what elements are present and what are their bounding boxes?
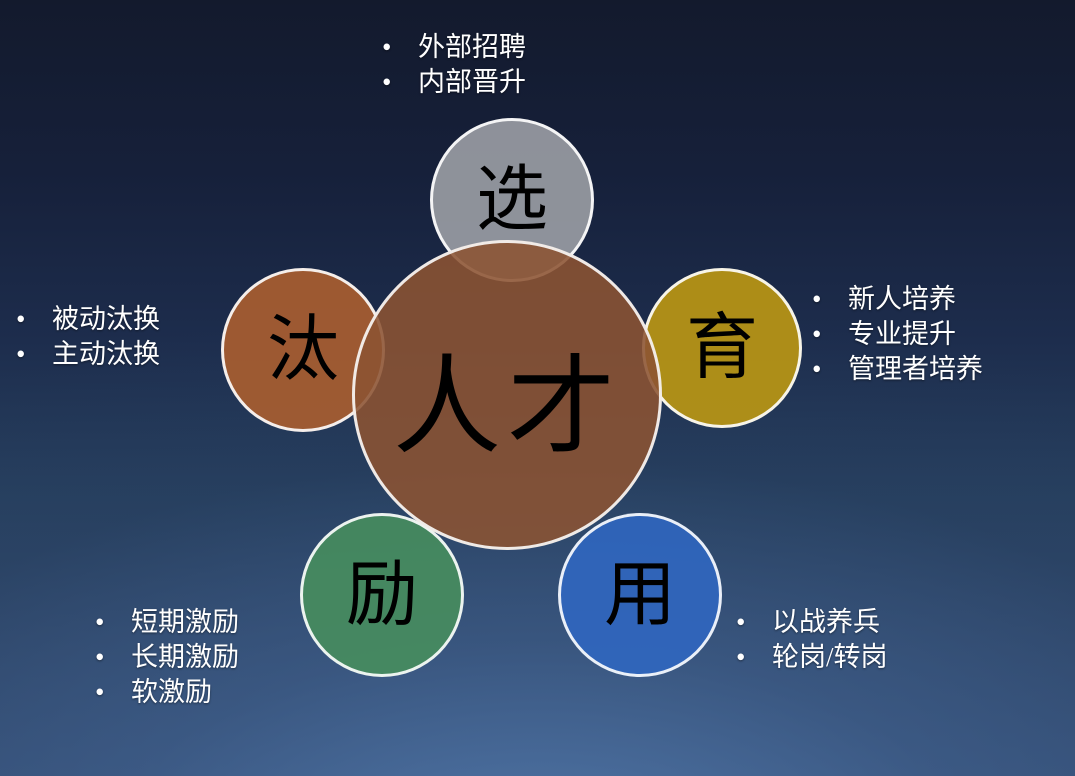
list-item: • 轮岗/转岗 [736,640,888,675]
circle-label-yong: 用 [604,559,676,631]
list-item: • 主动汰换 [16,337,160,372]
bullet-icon: • [812,352,848,387]
bullet-text: 新人培养 [848,282,956,317]
circle-yu[interactable]: 育 [642,268,802,428]
circle-core-talent[interactable]: 人才 [352,240,662,550]
slide-canvas: 汰 选 育 励 用 人才 • 外部招聘 • 内部晋升 [0,0,1075,776]
callout-list-yong: • 以战养兵 • 轮岗/转岗 [736,605,888,675]
list-item: • 新人培养 [812,282,983,317]
bullet-icon: • [16,302,52,337]
bullet-icon: • [812,282,848,317]
circle-label-li: 励 [346,559,418,631]
list-item: • 管理者培养 [812,352,983,387]
callout-list-yu: • 新人培养 • 专业提升 • 管理者培养 [812,282,983,387]
bullet-text: 内部晋升 [418,65,526,100]
bullet-icon: • [736,640,772,675]
bullet-text: 管理者培养 [848,352,983,387]
callout-list-tai: • 被动汰换 • 主动汰换 [16,302,160,372]
bullet-icon: • [95,640,131,675]
callout-li: • 短期激励 • 长期激励 • 软激励 [95,605,239,710]
list-item: • 被动汰换 [16,302,160,337]
bullet-icon: • [382,65,418,100]
list-item: • 专业提升 [812,317,983,352]
bullet-icon: • [812,317,848,352]
callout-list-xuan: • 外部招聘 • 内部晋升 [382,30,526,100]
circle-label-yu: 育 [686,312,758,384]
callout-list-li: • 短期激励 • 长期激励 • 软激励 [95,605,239,710]
bullet-icon: • [95,605,131,640]
bullet-icon: • [736,605,772,640]
bullet-icon: • [16,337,52,372]
list-item: • 长期激励 [95,640,239,675]
bullet-icon: • [382,30,418,65]
callout-yong: • 以战养兵 • 轮岗/转岗 [736,605,888,675]
circle-li[interactable]: 励 [300,513,464,677]
bullet-text: 以战养兵 [772,605,880,640]
bullet-text: 短期激励 [131,605,239,640]
bullet-text: 被动汰换 [52,302,160,337]
list-item: • 短期激励 [95,605,239,640]
circle-label-xuan: 选 [476,164,548,236]
bullet-text: 主动汰换 [52,337,160,372]
list-item: • 以战养兵 [736,605,888,640]
circle-label-tai: 汰 [267,314,339,386]
callout-xuan: • 外部招聘 • 内部晋升 [382,30,526,100]
list-item: • 内部晋升 [382,65,526,100]
callout-yu: • 新人培养 • 专业提升 • 管理者培养 [812,282,983,387]
bullet-text: 软激励 [131,675,212,710]
list-item: • 外部招聘 [382,30,526,65]
bullet-icon: • [95,675,131,710]
circle-label-core: 人才 [393,355,621,463]
circle-yong[interactable]: 用 [558,513,722,677]
list-item: • 软激励 [95,675,239,710]
callout-tai: • 被动汰换 • 主动汰换 [16,302,160,372]
bullet-text: 外部招聘 [418,30,526,65]
bullet-text: 长期激励 [131,640,239,675]
bullet-text: 专业提升 [848,317,956,352]
bullet-text: 轮岗/转岗 [772,640,888,675]
